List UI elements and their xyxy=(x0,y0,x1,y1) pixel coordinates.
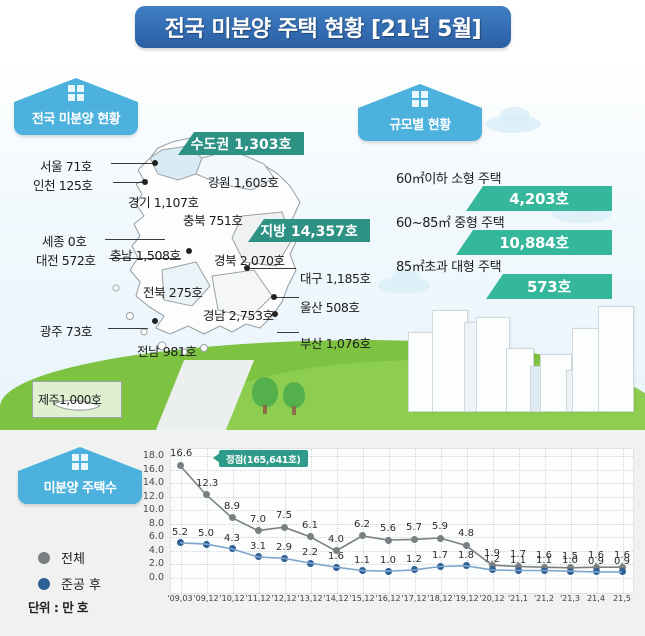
chart-point xyxy=(593,568,600,575)
chart-legend: 전체 준공 후 xyxy=(38,548,101,600)
ribbon-provincial-text: 지방 14,357호 xyxy=(260,221,358,241)
chart-value-label: 5.9 xyxy=(430,521,450,532)
chart-y-tick: 2.0 xyxy=(134,558,164,569)
chart-point xyxy=(463,542,470,549)
chart-value-label: 5.6 xyxy=(378,523,398,534)
chart-x-tick: 21,4 xyxy=(583,594,609,603)
badge-chart-label: 미분양 주택수 xyxy=(44,481,117,496)
chart-x-tick: '20,12 xyxy=(479,594,505,603)
legend-swatch-total xyxy=(38,552,50,564)
leader-line xyxy=(277,297,299,298)
badge-chart: 미분양 주택수 xyxy=(18,447,142,504)
legend-label-after: 준공 후 xyxy=(61,574,101,593)
chart-gridline-v xyxy=(337,449,338,593)
chart-gridline-v xyxy=(467,449,468,593)
chart-point xyxy=(463,562,470,569)
chart-y-tick: 6.0 xyxy=(134,531,164,542)
chart-gridline-v xyxy=(181,449,182,593)
chart-gridline xyxy=(171,470,633,471)
chart-x-tick: '10,12 xyxy=(219,594,245,603)
chart-value-label: 0.9 xyxy=(612,556,632,567)
infographic-root: 전국 미분양 주택 현황 [21년 5월] xyxy=(0,0,645,636)
chart-gridline xyxy=(171,524,633,525)
page-title-text: 전국 미분양 주택 현황 [21년 5월] xyxy=(165,11,481,43)
chart-x-tick: '13,12 xyxy=(297,594,323,603)
chart-value-label: 1.2 xyxy=(482,554,502,565)
chart-value-label: 1.0 xyxy=(560,555,580,566)
chart-y-tick: 14.0 xyxy=(134,477,164,488)
legend-label-total: 전체 xyxy=(61,548,85,567)
map-label-seoul: 서울 71호 xyxy=(40,156,92,175)
cloud-icon xyxy=(500,107,530,123)
map-label-gyeonggi: 경기 1,107호 xyxy=(128,192,199,211)
chart-x-tick: '09,03 xyxy=(167,594,193,603)
chart-point xyxy=(333,564,340,571)
legend-swatch-after xyxy=(38,578,50,590)
chart-value-label: 4.8 xyxy=(456,528,476,539)
map-label-gangwon: 강원 1,605호 xyxy=(208,172,279,191)
chart-x-tick: '21,3 xyxy=(557,594,583,603)
map-dot xyxy=(152,160,158,166)
chart-peak-annotation: 정점(165,641호) xyxy=(219,450,308,467)
ribbon-provincial: 지방 14,357호 xyxy=(248,219,370,242)
chart-point xyxy=(281,524,288,531)
chart-point xyxy=(359,567,366,574)
chart-value-label: 2.9 xyxy=(274,542,294,553)
chart-value-label: 1.2 xyxy=(404,554,424,565)
apartment-buildings-illustration xyxy=(408,292,638,412)
chart-value-label: 12.3 xyxy=(196,478,216,489)
chart-x-tick: '16,12 xyxy=(375,594,401,603)
map-label-busan: 부산 1,076호 xyxy=(300,333,371,352)
chart-x-tick: '11,12 xyxy=(245,594,271,603)
chart-point xyxy=(307,560,314,567)
chart-value-label: 5.7 xyxy=(404,522,424,533)
chart-y-tick: 4.0 xyxy=(134,545,164,556)
chart-value-label: 4.0 xyxy=(326,534,346,545)
badge-by-size-label: 규모별 현황 xyxy=(389,118,450,133)
chart-gridline xyxy=(171,497,633,498)
chart-value-label: 6.1 xyxy=(300,520,320,531)
chart-x-tick: '21,2 xyxy=(531,594,557,603)
chart-point xyxy=(255,527,262,534)
map-label-jeonnam: 전남 981호 xyxy=(137,341,197,360)
badge-nationwide: 전국 미분양 현황 xyxy=(14,78,138,135)
chart-point xyxy=(229,514,236,521)
chart-value-label: 1.1 xyxy=(352,555,372,566)
chart-value-label: 1.1 xyxy=(508,555,528,566)
size-row-label-medium: 60~85㎡ 중형 주택 xyxy=(396,212,504,231)
chart-point xyxy=(385,537,392,544)
chart-gridline-v xyxy=(207,449,208,593)
chart-point xyxy=(437,535,444,542)
chart-gridline-v xyxy=(233,449,234,593)
chart-gridline xyxy=(171,483,633,484)
badge-by-size-body: 규모별 현황 xyxy=(358,108,482,141)
chart-point xyxy=(281,555,288,562)
chart-value-label: 4.3 xyxy=(222,533,242,544)
map-label-ulsan: 울산 508호 xyxy=(300,297,360,316)
size-row-value-medium: 10,884호 xyxy=(456,230,612,255)
chart-value-label: 1.6 xyxy=(326,551,346,562)
badge-nationwide-body: 전국 미분양 현황 xyxy=(14,102,138,135)
chart-x-tick: '14,12 xyxy=(323,594,349,603)
leader-line xyxy=(111,163,155,164)
chart-value-label: 16.6 xyxy=(170,448,190,459)
window-icon xyxy=(412,91,428,107)
chart-value-label: 1.0 xyxy=(378,555,398,566)
chart-y-tick: 12.0 xyxy=(134,491,164,502)
leader-line xyxy=(277,332,299,333)
chart-point xyxy=(229,545,236,552)
page-title: 전국 미분양 주택 현황 [21년 5월] xyxy=(135,6,511,48)
chart-value-label: 6.2 xyxy=(352,519,372,530)
chart-point xyxy=(385,568,392,575)
leader-line xyxy=(113,182,145,183)
chart-x-tick: 21,5 xyxy=(609,594,635,603)
chart-x-tick: '09,12 xyxy=(193,594,219,603)
legend-item-after: 준공 후 xyxy=(38,574,101,593)
ribbon-capital-region: 수도권 1,303호 xyxy=(178,132,304,155)
jeju-inset-box: 제주1,000호 xyxy=(32,381,122,418)
chart-point xyxy=(437,563,444,570)
chart-point xyxy=(177,539,184,546)
size-row-label-large: 85㎡초과 대형 주택 xyxy=(396,256,501,275)
map-dot xyxy=(142,179,148,185)
chart-unit-note: 단위 : 만 호 xyxy=(28,597,88,616)
leader-line xyxy=(250,268,296,269)
chart-value-label: 8.9 xyxy=(222,501,242,512)
map-label-gwangju: 광주 73호 xyxy=(40,321,92,340)
chart-point xyxy=(515,567,522,574)
chart-point xyxy=(177,462,184,469)
chart-value-label: 3.1 xyxy=(248,541,268,552)
map-label-jeju: 제주1,000호 xyxy=(38,391,101,408)
map-dot xyxy=(272,311,278,317)
chart-y-tick: 8.0 xyxy=(134,518,164,529)
chart-y-tick: 0.0 xyxy=(134,572,164,583)
chart-y-tick: 16.0 xyxy=(134,464,164,475)
chart-x-tick: '19,12 xyxy=(453,594,479,603)
window-icon xyxy=(68,85,84,101)
legend-item-total: 전체 xyxy=(38,548,101,567)
badge-nationwide-label: 전국 미분양 현황 xyxy=(32,112,120,127)
chart-value-label: 1.1 xyxy=(534,555,554,566)
map-label-chungnam: 충남 1,508호 xyxy=(110,245,181,264)
chart-point xyxy=(567,568,574,575)
chart-value-label: 7.5 xyxy=(274,510,294,521)
size-row-label-small: 60㎡이하 소형 주택 xyxy=(396,168,501,187)
ribbon-capital-region-text: 수도권 1,303호 xyxy=(191,134,292,154)
chart-y-tick: 18.0 xyxy=(134,450,164,461)
window-icon xyxy=(72,454,88,470)
chart-point xyxy=(307,533,314,540)
chart-x-tick: '12,12 xyxy=(271,594,297,603)
map-dot xyxy=(152,318,158,324)
map-label-daegu: 대구 1,185호 xyxy=(300,268,371,287)
map-label-chungbuk: 충북 751호 xyxy=(183,210,243,229)
chart-plot-area xyxy=(170,448,634,594)
map-dot xyxy=(186,248,192,254)
chart-value-label: 0.9 xyxy=(586,556,606,567)
chart-value-label: 5.0 xyxy=(196,528,216,539)
chart-point xyxy=(489,566,496,573)
size-row-value-small: 4,203호 xyxy=(466,186,612,211)
map-label-sejong: 세종 0호 xyxy=(42,231,86,250)
chart-value-label: 5.2 xyxy=(170,527,190,538)
chart-point xyxy=(541,567,548,574)
chart-value-label: 2.2 xyxy=(300,547,320,558)
chart-point xyxy=(411,536,418,543)
chart-point xyxy=(619,568,626,575)
size-row-value-large: 573호 xyxy=(486,274,612,299)
chart-point xyxy=(203,491,210,498)
chart-gridline xyxy=(171,578,633,579)
chart-x-tick: '21,1 xyxy=(505,594,531,603)
chart-x-tick: '17,12 xyxy=(401,594,427,603)
chart-point xyxy=(203,541,210,548)
map-label-gyeongnam: 경남 2,753호 xyxy=(203,305,274,324)
chart-x-tick: '18,12 xyxy=(427,594,453,603)
chart-point xyxy=(411,566,418,573)
badge-chart-body: 미분양 주택수 xyxy=(18,471,142,504)
chart-value-label: 1.8 xyxy=(456,550,476,561)
leader-line xyxy=(108,328,148,329)
map-label-daejeon: 대전 572호 xyxy=(36,250,96,269)
map-label-incheon: 인천 125호 xyxy=(33,175,93,194)
badge-by-size: 규모별 현황 xyxy=(358,84,482,141)
chart-value-label: 7.0 xyxy=(248,514,268,525)
chart-y-tick: 10.0 xyxy=(134,504,164,515)
chart-value-label: 1.7 xyxy=(430,550,450,561)
map-label-jeonbuk: 전북 275호 xyxy=(143,282,203,301)
leader-line xyxy=(105,239,165,240)
chart-x-tick: '15,12 xyxy=(349,594,375,603)
